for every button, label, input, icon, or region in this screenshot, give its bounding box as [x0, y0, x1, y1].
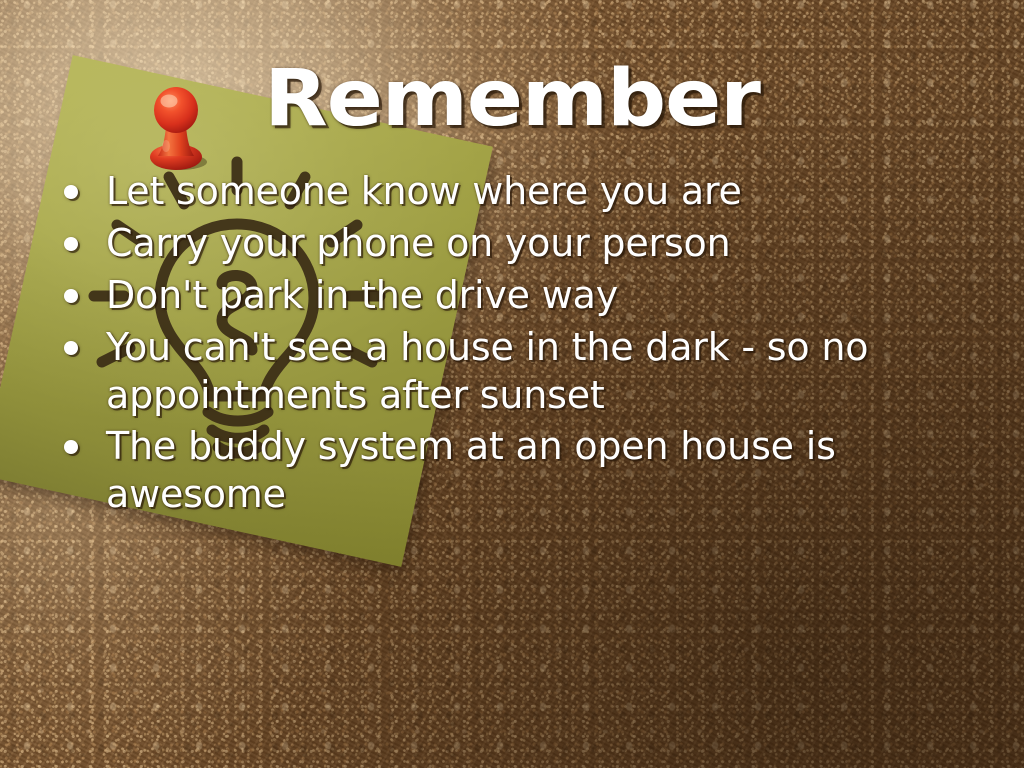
list-item-label: Don't park in the drive way: [106, 272, 1000, 320]
bullet-dot-icon: [64, 185, 78, 199]
list-item-label: The buddy system at an open house is awe…: [106, 423, 1000, 519]
list-item: Let someone know where you are: [58, 168, 1000, 216]
list-item: Carry your phone on your person: [58, 220, 1000, 268]
slide-canvas: Remember Let someone know where you are …: [0, 0, 1024, 768]
bullet-dot-icon: [64, 237, 78, 251]
list-item-label: Carry your phone on your person: [106, 220, 1000, 268]
bullet-list: Let someone know where you are Carry you…: [58, 168, 1000, 523]
bullet-dot-icon: [64, 341, 78, 355]
page-title: Remember: [0, 60, 1024, 138]
list-item: You can't see a house in the dark - so n…: [58, 324, 1000, 420]
list-item-label: You can't see a house in the dark - so n…: [106, 324, 1000, 420]
list-item-label: Let someone know where you are: [106, 168, 1000, 216]
bullet-dot-icon: [64, 289, 78, 303]
list-item: The buddy system at an open house is awe…: [58, 423, 1000, 519]
list-item: Don't park in the drive way: [58, 272, 1000, 320]
bullet-dot-icon: [64, 440, 78, 454]
